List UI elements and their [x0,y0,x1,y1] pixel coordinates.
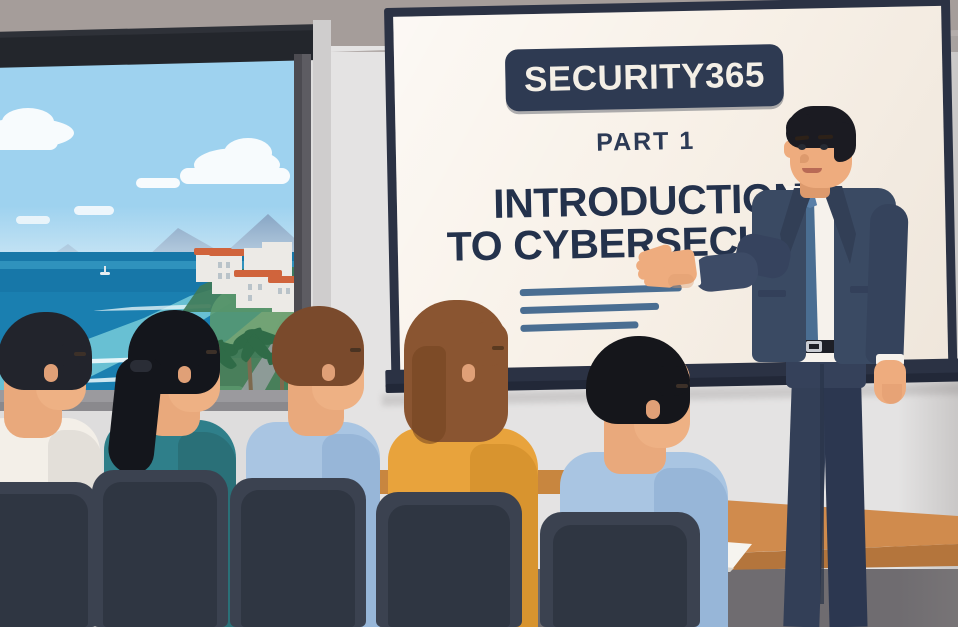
attendee-5-ear [646,400,660,419]
presenter-hair-front [786,114,810,138]
attendee-3-ear [322,364,335,381]
cloud-icon [136,178,180,188]
attendee-3-eyebrow [350,348,361,352]
presenter-arm-right [865,203,909,364]
building-window [226,273,230,279]
attendee-1-ear [44,364,58,382]
jacket-pocket [758,290,786,297]
attendee-2-ear [178,366,191,383]
thumb [668,274,694,288]
building-window [248,284,252,290]
trouser-crease [820,364,824,604]
attendee-4-eyebrow [492,346,504,350]
presenter-mouth [802,168,822,173]
presenter-forearm-left [692,251,759,293]
chair-cushion [388,505,510,627]
cloud-icon [2,108,54,136]
presenter-nose [800,154,809,163]
security365-badge: SECURITY365 [505,44,784,112]
building-window [218,262,222,268]
building-window [218,273,222,279]
building-window [258,284,262,290]
presenter-eye [820,144,828,150]
training-room-illustration: SECURITY365 PART 1 INTRODUCTION TO CYBER… [0,0,958,627]
attendee-4-hair-fringe [478,322,508,366]
building-roof [209,249,245,256]
building-window [226,262,230,268]
chair [230,478,366,627]
cloud-icon [224,138,272,168]
presenter-leg-right [822,356,867,627]
chair [540,512,700,627]
chair-cushion [241,490,355,627]
hand-shading [882,384,902,404]
boat-mast [104,266,106,273]
building-window [286,288,290,294]
building-window [278,288,282,294]
chair-cushion [0,494,88,627]
attendee-4-ear [462,364,475,382]
chair [376,492,522,627]
cloud-icon [0,134,58,150]
presenter-instructor [742,108,958,627]
attendee-5-eyebrow [676,384,688,388]
badge-label: SECURITY365 [524,55,766,100]
presenter-eyebrow [818,135,833,140]
presenter-hair-side [834,122,856,162]
presenter-eye [798,144,806,150]
attendee-4-hair-strand [412,346,446,444]
chair-cushion [103,482,217,627]
cloud-icon [180,168,290,184]
attendee-2-eyebrow [206,350,217,354]
chair-cushion [553,525,687,627]
belt-buckle-inner [809,344,819,349]
hair-tie [130,360,152,372]
chair [92,470,228,627]
attendee-1-eyebrow [74,352,86,356]
building-window [248,295,252,301]
chair [0,482,98,627]
